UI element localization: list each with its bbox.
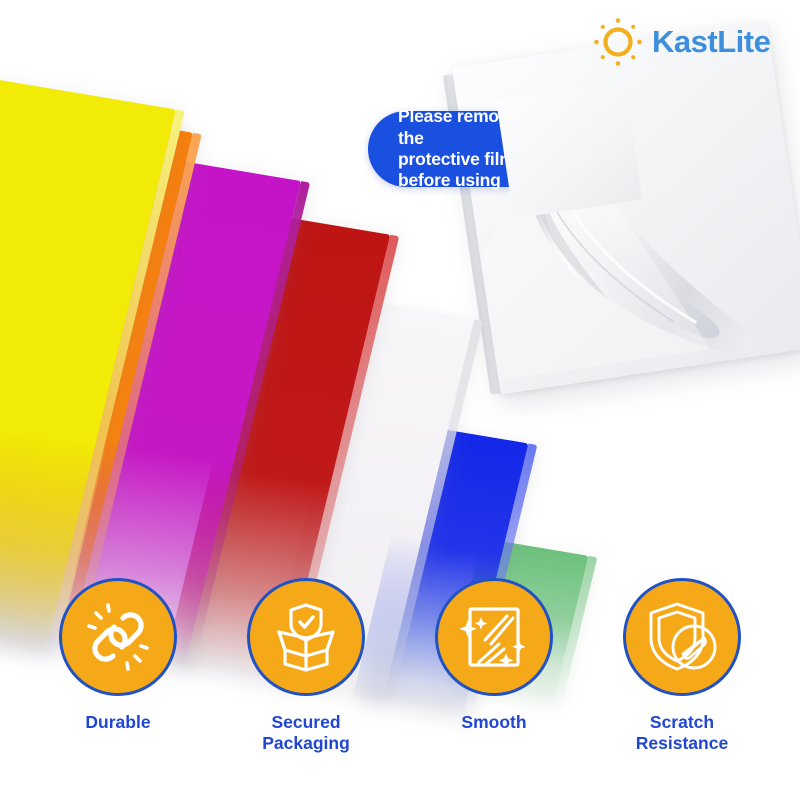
clear-sheet-corner-overlap <box>496 81 642 219</box>
feature-durable[interactable]: Durable <box>38 578 198 800</box>
shield-box-icon <box>267 598 345 676</box>
feature-badge <box>59 578 177 696</box>
feature-label: Secured Packaging <box>262 712 350 754</box>
feature-badge <box>435 578 553 696</box>
shield-blade-icon <box>643 598 721 676</box>
brand-name: KastLite <box>652 24 770 60</box>
product-image-canvas: Please remove the protective film before… <box>0 0 800 800</box>
clear-sheet-face <box>452 21 800 394</box>
feature-list: Durable Secured Packaging <box>0 578 800 800</box>
sun-icon <box>592 16 644 68</box>
feature-badge <box>623 578 741 696</box>
feature-label: Scratch Resistance <box>636 712 728 754</box>
sparkling-pane-icon <box>457 600 531 674</box>
feature-badge <box>247 578 365 696</box>
feature-label: Durable <box>85 712 150 733</box>
clear-acrylic-sheet <box>452 21 800 394</box>
feature-label: Smooth <box>461 712 526 733</box>
chain-link-icon <box>79 598 157 676</box>
feature-scratch-resistance[interactable]: Scratch Resistance <box>602 578 762 800</box>
brand-logo: KastLite <box>592 16 770 68</box>
feature-secured-packaging[interactable]: Secured Packaging <box>226 578 386 800</box>
feature-smooth[interactable]: Smooth <box>414 578 574 800</box>
